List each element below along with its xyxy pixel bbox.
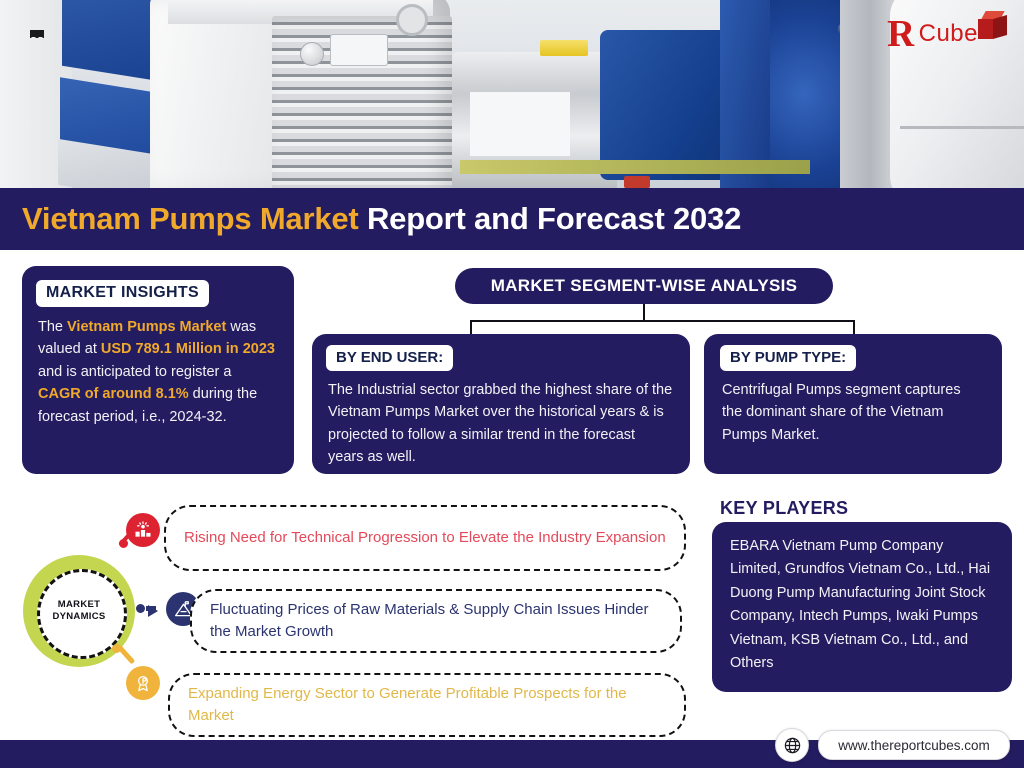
cube-icon: [978, 11, 1008, 43]
market-insights-heading: MARKET INSIGHTS: [36, 280, 209, 307]
brand-logo: Я Cube: [887, 10, 1008, 58]
page-title-highlight: Vietnam Pumps Market: [22, 201, 359, 236]
hero-photo-knob: [300, 42, 324, 66]
insights-highlight-value: USD 789.1 Million in 2023: [101, 341, 275, 357]
segment-body-by-pump-type: Centrifugal Pumps segment captures the d…: [722, 379, 984, 446]
insights-text-1: The: [38, 319, 67, 335]
dynamics-label-line1: MARKET: [58, 599, 100, 611]
dynamics-item-restraint: Fluctuating Prices of Raw Materials & Su…: [190, 589, 682, 653]
infographic-page: Я Cube Vietnam Pumps Market Report and F…: [0, 0, 1024, 768]
key-players-card: EBARA Vietnam Pump Company Limited, Grun…: [712, 522, 1012, 692]
dynamics-item-driver: Rising Need for Technical Progression to…: [164, 505, 686, 571]
award-ribbon-icon: [126, 666, 160, 700]
key-players-heading: KEY PLAYERS: [720, 498, 848, 519]
spoke-dot-opportunity: [112, 644, 121, 653]
key-players-body: EBARA Vietnam Pump Company Limited, Grun…: [730, 535, 994, 676]
hero-photo-nameplate: [330, 34, 388, 66]
connector-bar: [470, 320, 855, 322]
website-url[interactable]: www.thereportcubes.com: [818, 730, 1010, 760]
spoke-dot-driver: [119, 539, 128, 548]
watermark-icon: [30, 30, 44, 46]
market-insights-body: The Vietnam Pumps Market was valued at U…: [38, 316, 278, 428]
market-insights-card: MARKET INSIGHTS The Vietnam Pumps Market…: [22, 266, 294, 474]
segment-heading-by-pump-type: BY PUMP TYPE:: [720, 345, 856, 371]
hero-photo-tank-seam: [900, 126, 1024, 129]
globe-icon[interactable]: [775, 728, 809, 762]
hero-photo-lifting-eye: [396, 4, 428, 36]
insights-text-3: and is anticipated to register a: [38, 364, 231, 380]
hero-image: Я Cube: [0, 0, 1024, 188]
segment-body-by-end-user: The Industrial sector grabbed the highes…: [328, 379, 674, 469]
insights-highlight-market: Vietnam Pumps Market: [67, 319, 226, 335]
hero-photo-floor-strip: [460, 160, 810, 174]
hero-photo-coupling-label: [470, 92, 570, 156]
dynamics-item-opportunity: Expanding Energy Sector to Generate Prof…: [168, 673, 686, 737]
page-title: Vietnam Pumps Market Report and Forecast…: [22, 201, 741, 237]
people-growth-icon: [126, 513, 160, 547]
logo-letter: Я: [887, 15, 914, 53]
hero-photo-red-marker: [624, 176, 650, 188]
segment-card-by-end-user: BY END USER: The Industrial sector grabb…: [312, 334, 690, 474]
dynamics-label-line2: DYNAMICS: [52, 611, 105, 623]
segment-heading-by-end-user: BY END USER:: [326, 345, 453, 371]
page-title-rest: Report and Forecast 2032: [359, 201, 742, 236]
insights-highlight-cagr: CAGR of around 8.1%: [38, 386, 189, 402]
hero-photo-yellow-tag: [540, 40, 588, 56]
spoke-arrow-restraint: [148, 605, 158, 617]
logo-word: Cube: [919, 20, 978, 48]
segment-card-by-pump-type: BY PUMP TYPE: Centrifugal Pumps segment …: [704, 334, 1002, 474]
segment-analysis-pill: MARKET SEGMENT-WISE ANALYSIS: [455, 268, 833, 304]
spoke-dot-restraint: [136, 604, 145, 613]
title-bar: Vietnam Pumps Market Report and Forecast…: [0, 188, 1024, 250]
